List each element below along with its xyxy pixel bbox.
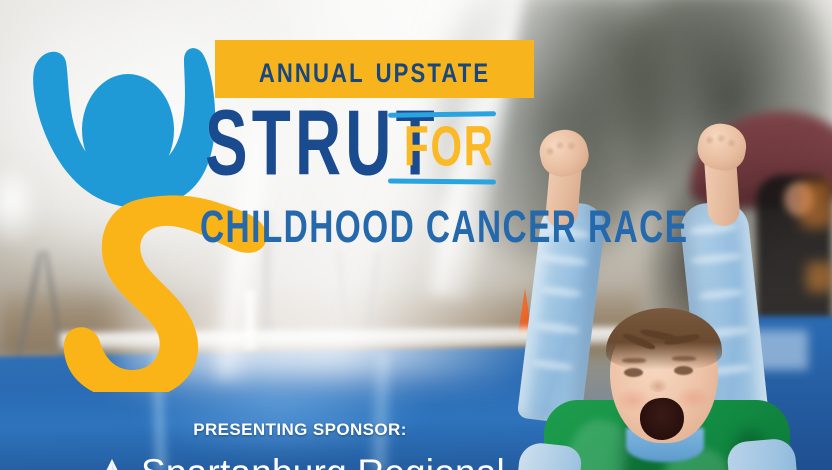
cheering-boy	[500, 110, 832, 470]
boy-right-fist	[694, 120, 749, 174]
annual-upstate-band: Annual Upstate	[215, 40, 534, 98]
boy-left-fist	[536, 126, 593, 181]
for-group: FOR	[388, 112, 496, 184]
spartanburg-regional-triangle-logo	[95, 455, 129, 470]
for-word: FOR	[404, 118, 495, 174]
presenting-sponsor-label: PRESENTING SPONSOR:	[0, 420, 600, 440]
presenting-sponsor-block: PRESENTING SPONSOR: Spartanburg Regional	[0, 420, 600, 440]
logo-head	[82, 74, 174, 186]
poster-root: Annual Upstate STRUT FOR CHILDHOOD CANCE…	[0, 0, 832, 470]
boy-nose	[648, 378, 668, 392]
sponsor-name: Spartanburg Regional	[141, 454, 505, 470]
for-rule-bottom	[388, 178, 496, 184]
annual-upstate-text: Annual Upstate	[259, 47, 490, 92]
sponsor-identity-row: Spartanburg Regional	[0, 454, 600, 470]
race-subtitle: CHILDHOOD CANCER RACE	[200, 205, 688, 251]
